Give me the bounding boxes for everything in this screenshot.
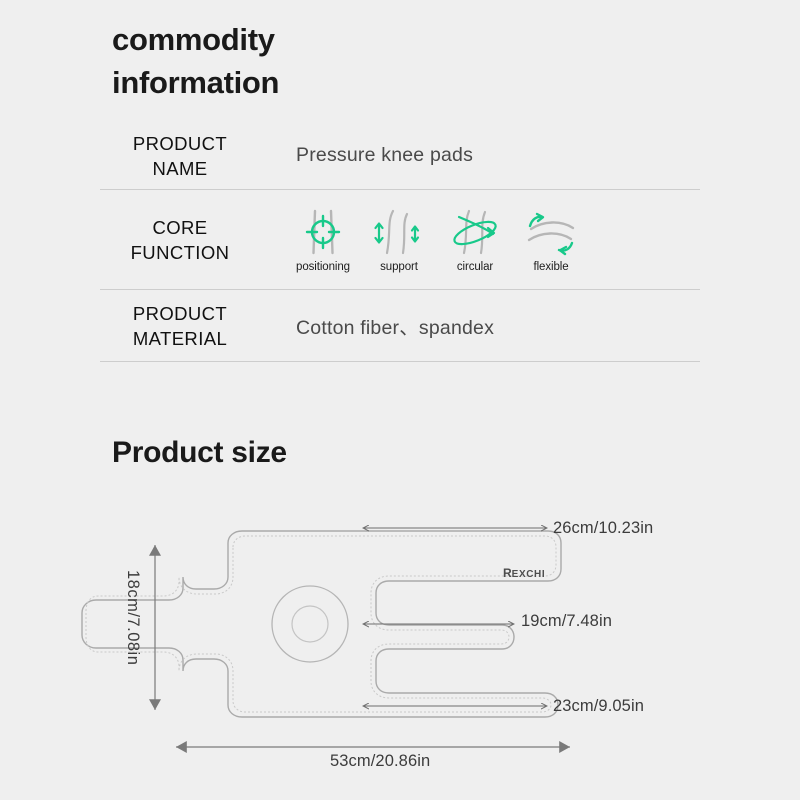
table-row-product-material: PRODUCT MATERIAL Cotton fiber、spandex [100, 290, 700, 362]
brand-logo: REXCHI [503, 566, 545, 580]
row-label-line2: MATERIAL [100, 326, 260, 351]
row-label-core-function: CORE FUNCTION [100, 215, 260, 265]
brand-logo-initial: R [503, 566, 512, 580]
dimension-label-53cm: 53cm/20.86in [330, 752, 430, 771]
page-title-line1: commodity [112, 22, 275, 57]
row-value-product-material: Cotton fiber、spandex [260, 311, 700, 340]
dimension-label-19cm: 19cm/7.48in [521, 612, 612, 631]
row-value-product-name: Pressure knee pads [260, 144, 700, 167]
dimension-label-26cm: 26cm/10.23in [553, 519, 653, 538]
table-row-product-name: PRODUCT NAME Pressure knee pads [100, 122, 700, 190]
core-function-icon-list: positioning [260, 207, 700, 273]
row-label-line1: PRODUCT [100, 131, 260, 156]
product-size-diagram [0, 495, 800, 795]
commodity-info-table: PRODUCT NAME Pressure knee pads CORE FUN… [100, 122, 700, 362]
support-arrows-icon [371, 207, 427, 257]
row-label-line1: PRODUCT [100, 301, 260, 326]
product-size-title: Product size [112, 433, 287, 473]
core-function-label: circular [457, 261, 493, 273]
core-function-item-flexible: flexible [518, 207, 584, 273]
dimension-label-18cm: 18cm/7.08in [123, 570, 142, 665]
page-title: commodity information [112, 18, 442, 104]
flexible-arrows-icon [523, 207, 579, 257]
crosshair-leg-icon [295, 207, 351, 257]
product-information-page: commodity information PRODUCT NAME Press… [0, 0, 800, 800]
core-function-item-support: support [366, 207, 432, 273]
page-title-line2: information [112, 61, 442, 104]
row-label-line2: NAME [100, 156, 260, 181]
row-label-product-material: PRODUCT MATERIAL [100, 301, 260, 351]
knee-opening-circles [272, 586, 348, 662]
row-label-product-name: PRODUCT NAME [100, 131, 260, 181]
circular-wrap-icon [447, 207, 503, 257]
brand-logo-text: EXCHI [512, 569, 546, 580]
core-function-label: support [380, 261, 418, 273]
core-function-item-positioning: positioning [290, 207, 356, 273]
dimension-label-23cm: 23cm/9.05in [553, 697, 644, 716]
row-label-line2: FUNCTION [100, 240, 260, 265]
core-function-item-circular: circular [442, 207, 508, 273]
core-function-label: flexible [534, 261, 569, 273]
row-label-line1: CORE [100, 215, 260, 240]
core-function-label: positioning [296, 261, 350, 273]
table-row-core-function: CORE FUNCTION positioning [100, 190, 700, 290]
